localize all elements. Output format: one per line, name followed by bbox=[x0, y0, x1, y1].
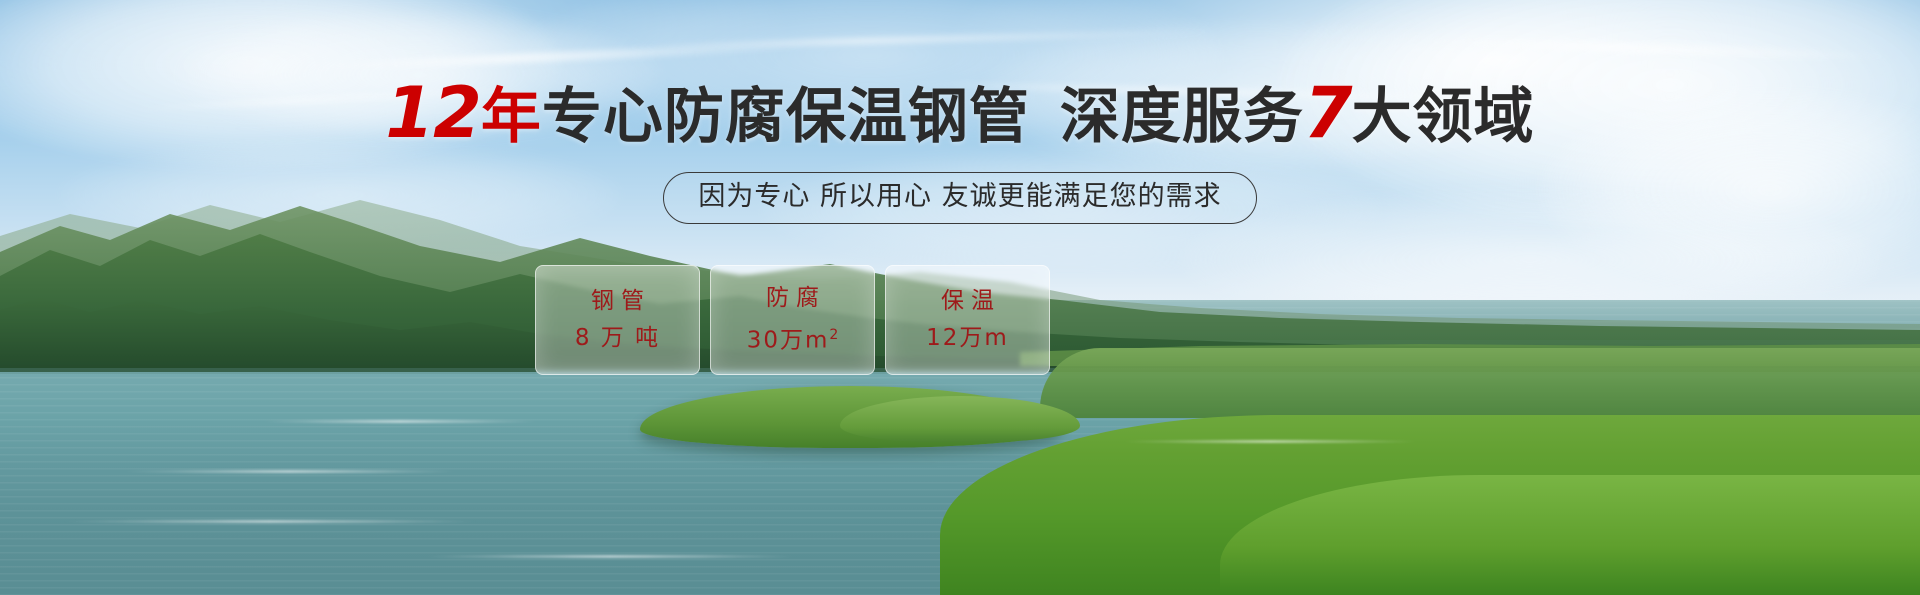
stat-card-label: 防腐 bbox=[759, 287, 826, 310]
stat-card-label: 保温 bbox=[934, 290, 1001, 313]
stat-card-value: 30万m2 bbox=[747, 324, 839, 353]
foreground-grass-highlight bbox=[1220, 475, 1920, 595]
stat-card-value: 12万m bbox=[926, 327, 1009, 350]
banner-subtitle-container: 因为专心 所以用心 友诚更能满足您的需求 bbox=[0, 172, 1920, 224]
water-ripple bbox=[260, 420, 540, 423]
banner-headline: 12年专心防腐保温钢管深度服务7大领域 bbox=[0, 83, 1920, 147]
water-ripple bbox=[120, 470, 460, 473]
promo-banner: 12年专心防腐保温钢管深度服务7大领域 因为专心 所以用心 友诚更能满足您的需求… bbox=[0, 0, 1920, 595]
water-ripple bbox=[420, 555, 800, 558]
stat-card-insulation[interactable]: 保温 12万m bbox=[885, 265, 1050, 375]
headline-years-number: 12 bbox=[385, 72, 480, 154]
banner-subtitle: 因为专心 所以用心 友诚更能满足您的需求 bbox=[663, 172, 1256, 224]
headline-years-unit: 年 bbox=[481, 82, 542, 152]
stat-card-value-main: 12万m bbox=[926, 325, 1009, 351]
headline-primary-text: 专心防腐保温钢管 bbox=[542, 82, 1030, 152]
stat-card-group: 钢管 8 万 吨 防腐 30万m2 保温 12万m bbox=[535, 265, 1050, 375]
stat-card-anticorrosion[interactable]: 防腐 30万m2 bbox=[710, 265, 875, 375]
water-ripple bbox=[60, 520, 480, 523]
headline-fields-text: 大领域 bbox=[1352, 82, 1535, 152]
stat-card-label: 钢管 bbox=[584, 290, 651, 313]
stat-card-steel-pipe[interactable]: 钢管 8 万 吨 bbox=[535, 265, 700, 375]
water-ripple bbox=[1120, 440, 1420, 443]
stat-card-value-main: 30万m bbox=[747, 328, 830, 354]
stat-card-value: 8 万 吨 bbox=[575, 327, 660, 350]
headline-service-text: 深度服务 bbox=[1060, 82, 1304, 152]
right-bank-grass bbox=[1040, 348, 1920, 418]
headline-fields-number: 7 bbox=[1304, 72, 1352, 154]
stat-card-value-main: 8 万 吨 bbox=[575, 325, 660, 351]
stat-card-value-exponent: 2 bbox=[829, 327, 838, 343]
